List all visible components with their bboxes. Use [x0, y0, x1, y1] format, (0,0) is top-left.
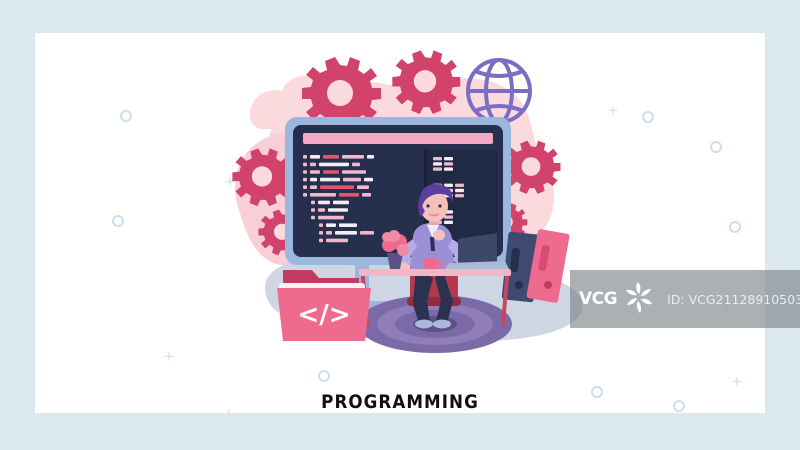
code-block-token: [444, 162, 453, 165]
code-line-token: [303, 163, 307, 167]
code-line-token: [310, 185, 317, 189]
illustration-canvas: </>: [35, 33, 765, 413]
code-line-token: [318, 201, 330, 205]
code-line-token: [303, 193, 307, 197]
code-line-token: [333, 201, 349, 205]
code-line-token: [311, 201, 315, 205]
code-block-token: [433, 167, 442, 170]
code-line-token: [360, 231, 374, 235]
code-line-token: [339, 223, 357, 227]
code-line-token: [310, 155, 320, 159]
code-line-token: [303, 155, 307, 159]
code-line-token: [352, 163, 360, 167]
vcg-watermark: VCG ID: VCG211289105036: [570, 270, 800, 328]
screenshot-root: ++++++: [0, 0, 800, 450]
code-line-token: [320, 185, 354, 189]
code-line-token: [303, 178, 307, 182]
code-line-token: [323, 155, 339, 159]
code-line-token: [310, 170, 320, 174]
code-line-token: [310, 163, 316, 167]
code-line-token: [319, 223, 323, 227]
vcg-id-text: ID: VCG211289105036: [667, 292, 800, 307]
code-line-token: [303, 170, 307, 174]
code-block-token: [433, 162, 442, 165]
code-line-token: [342, 155, 364, 159]
code-line-token: [367, 155, 374, 159]
code-line-token: [318, 216, 344, 220]
code-line-token: [319, 231, 323, 235]
code-line-token: [323, 170, 339, 174]
code-block-token: [444, 221, 453, 224]
code-block-token: [444, 215, 453, 218]
binder-stack: [502, 229, 570, 303]
illustration-card: ++++++: [35, 33, 765, 413]
code-folder-icon: </>: [277, 270, 371, 341]
code-line-token: [318, 208, 325, 212]
code-line-token: [335, 231, 357, 235]
vcg-brand-text: VCG: [579, 289, 617, 309]
code-line-token: [320, 178, 340, 182]
code-block-token: [455, 184, 464, 187]
code-line-token: [364, 178, 373, 182]
code-block-token: [444, 167, 453, 170]
code-line-token: [311, 208, 315, 212]
code-line-token: [328, 208, 348, 212]
page-title: PROGRAMMING: [79, 391, 721, 413]
code-line-token: [303, 185, 307, 189]
vcg-petal-logo-icon: [619, 277, 659, 322]
code-line-token: [319, 163, 349, 167]
code-block-token: [455, 189, 464, 192]
code-line-token: [310, 178, 317, 182]
code-line-token: [343, 178, 361, 182]
code-block-token: [433, 157, 442, 160]
code-line-token: [342, 170, 366, 174]
code-line-token: [311, 216, 315, 220]
code-line-token: [362, 193, 371, 197]
code-line-token: [326, 231, 332, 235]
code-line-token: [357, 185, 369, 189]
code-line-token: [310, 193, 336, 197]
code-line-token: [319, 239, 323, 243]
code-line-token: [339, 193, 359, 197]
code-line-token: [326, 239, 348, 243]
code-block-token: [444, 157, 453, 160]
folder-code-glyph: </>: [297, 300, 350, 330]
code-block-token: [455, 194, 464, 197]
code-line-token: [326, 223, 336, 227]
